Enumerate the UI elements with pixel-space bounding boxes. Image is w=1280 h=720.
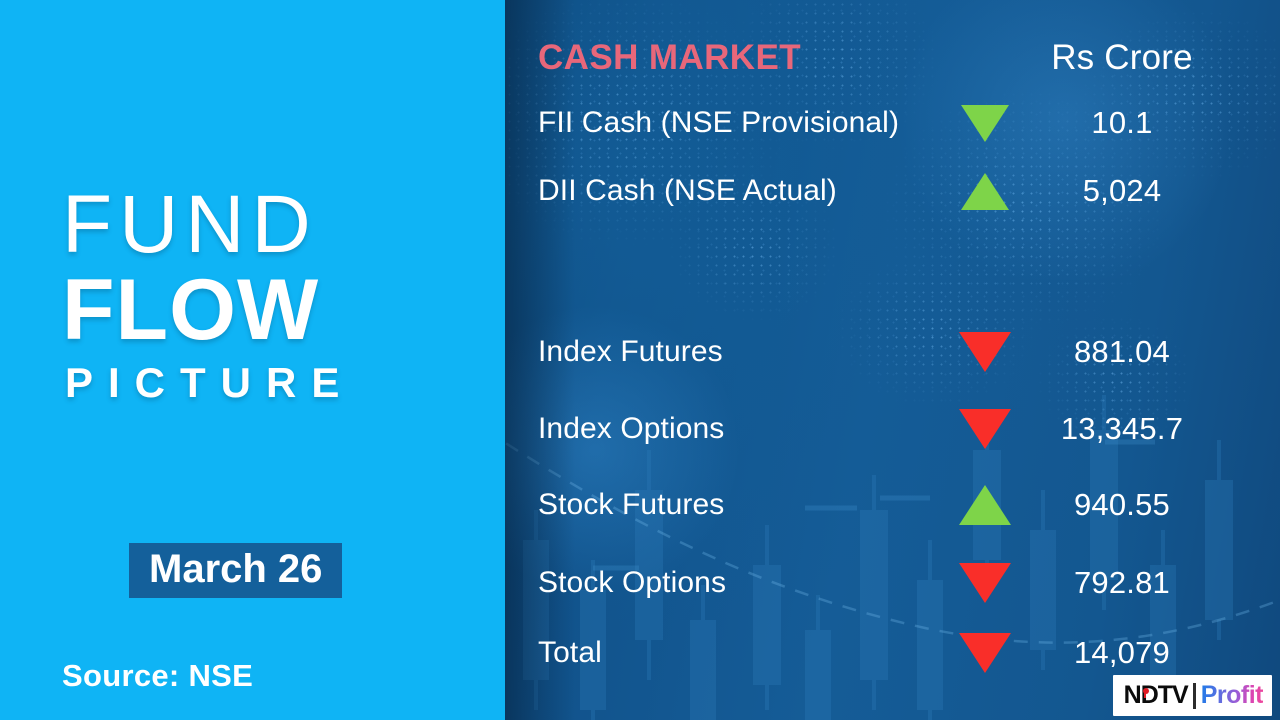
table-header: CASH MARKET Rs Crore bbox=[505, 38, 1280, 88]
logo-line-picture: PICTURE bbox=[62, 363, 505, 403]
profit-wordmark: Profit bbox=[1201, 681, 1263, 710]
arrow-up-icon bbox=[961, 173, 1009, 210]
ndtv-profit-logo: NDTV Profit bbox=[1113, 675, 1272, 716]
right-panel: CASH MARKET Rs Crore FII Cash (NSE Provi… bbox=[505, 0, 1280, 720]
arrow-down-icon bbox=[961, 105, 1009, 142]
table-row: Total14,079 bbox=[505, 629, 1280, 677]
row-trend-arrow bbox=[945, 328, 1025, 376]
row-trend-arrow bbox=[945, 559, 1025, 607]
row-value: 13,345.7 bbox=[1022, 405, 1222, 453]
row-value: 5,024 bbox=[1022, 167, 1222, 215]
row-value: 10.1 bbox=[1022, 99, 1222, 147]
logo-line-flow: FLOW bbox=[62, 269, 505, 352]
fund-flow-picture-logo: FUND FLOW PICTURE bbox=[0, 186, 505, 404]
source-label: Source: bbox=[62, 658, 180, 693]
fund-flow-picture-graphic: FUND FLOW PICTURE March 26 Source: NSE bbox=[0, 0, 1280, 720]
arrow-up-icon bbox=[959, 485, 1011, 525]
row-label: DII Cash (NSE Actual) bbox=[538, 167, 837, 215]
arrow-down-icon bbox=[959, 563, 1011, 603]
left-panel: FUND FLOW PICTURE March 26 Source: NSE bbox=[0, 0, 505, 720]
row-value: 792.81 bbox=[1022, 559, 1222, 607]
arrow-down-icon bbox=[959, 633, 1011, 673]
date-badge: March 26 bbox=[129, 543, 342, 598]
row-label: Total bbox=[538, 629, 602, 677]
row-label: Index Options bbox=[538, 405, 724, 453]
table-row: DII Cash (NSE Actual)5,024 bbox=[505, 167, 1280, 215]
row-label: FII Cash (NSE Provisional) bbox=[538, 99, 899, 147]
row-trend-arrow bbox=[945, 481, 1025, 529]
row-value: 940.55 bbox=[1022, 481, 1222, 529]
arrow-down-icon bbox=[959, 332, 1011, 372]
row-label: Stock Options bbox=[538, 559, 726, 607]
table-row: Stock Futures940.55 bbox=[505, 481, 1280, 529]
row-value: 14,079 bbox=[1022, 629, 1222, 677]
cash-market-heading: CASH MARKET bbox=[538, 38, 801, 78]
row-trend-arrow bbox=[945, 629, 1025, 677]
row-trend-arrow bbox=[945, 167, 1025, 215]
table-row: Index Futures881.04 bbox=[505, 328, 1280, 376]
row-label: Stock Futures bbox=[538, 481, 724, 529]
arrow-down-icon bbox=[959, 409, 1011, 449]
source-value: NSE bbox=[188, 658, 253, 693]
unit-heading: Rs Crore bbox=[1022, 38, 1222, 78]
row-trend-arrow bbox=[945, 405, 1025, 453]
ndtv-red-dot-icon bbox=[1143, 688, 1149, 694]
row-label: Index Futures bbox=[538, 328, 723, 376]
table-row: Index Options13,345.7 bbox=[505, 405, 1280, 453]
source-attribution: Source: NSE bbox=[62, 658, 253, 694]
ndtv-wordmark: NDTV bbox=[1124, 681, 1188, 710]
table-row: FII Cash (NSE Provisional)10.1 bbox=[505, 99, 1280, 147]
logo-divider bbox=[1193, 683, 1196, 709]
logo-line-fund: FUND bbox=[62, 186, 505, 265]
row-value: 881.04 bbox=[1022, 328, 1222, 376]
table-row: Stock Options792.81 bbox=[505, 559, 1280, 607]
row-trend-arrow bbox=[945, 99, 1025, 147]
